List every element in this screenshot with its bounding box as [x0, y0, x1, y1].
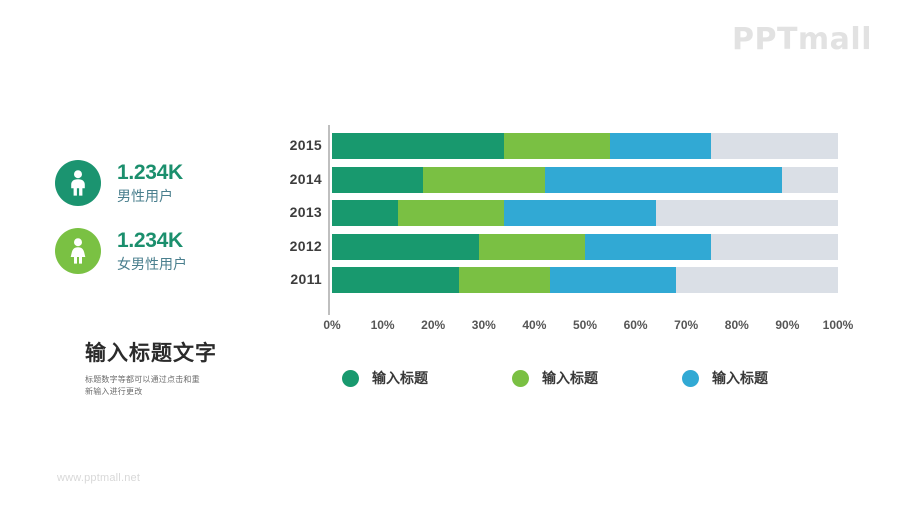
- bar-segment-1: [459, 267, 550, 293]
- y-axis-line: [328, 125, 330, 315]
- stat-text-female: 1.234K 女男性用户: [117, 229, 187, 272]
- bar-segment-2: [504, 200, 656, 226]
- bar-segment-0: [332, 234, 479, 260]
- bar-row: [332, 234, 838, 260]
- bar-segment-0: [332, 267, 459, 293]
- bar-segment-1: [398, 200, 504, 226]
- bar-segment-3: [711, 133, 838, 159]
- legend-dot-icon: [342, 370, 359, 387]
- bar-row: [332, 267, 838, 293]
- bar-segment-3: [711, 234, 838, 260]
- x-tick-0pct: 0%: [323, 318, 340, 332]
- category-axis-labels: 20152014201320122011: [262, 125, 322, 315]
- bar-segment-2: [585, 234, 712, 260]
- footer-url: www.pptmall.net: [57, 472, 140, 484]
- category-label-2015: 2015: [264, 137, 322, 153]
- male-user-icon: [68, 170, 88, 196]
- bar-segment-3: [782, 167, 838, 193]
- x-tick-80pct: 80%: [725, 318, 749, 332]
- bar-segment-0: [332, 167, 423, 193]
- legend-label: 输入标题: [372, 368, 428, 388]
- pptmall-logo: PPTmall: [732, 22, 872, 57]
- bar-segment-1: [504, 133, 610, 159]
- x-tick-70pct: 70%: [674, 318, 698, 332]
- legend-dot-icon: [512, 370, 529, 387]
- stacked-bar-chart: 20152014201320122011 0%10%20%30%40%50%60…: [262, 125, 862, 405]
- bar-segment-1: [479, 234, 585, 260]
- x-axis-tick-labels: 0%10%20%30%40%50%60%70%80%90%100%: [332, 318, 838, 338]
- legend-item-1[interactable]: 输入标题: [512, 368, 682, 388]
- stat-row-female: 1.234K 女男性用户: [55, 228, 270, 274]
- x-tick-50pct: 50%: [573, 318, 597, 332]
- x-tick-10pct: 10%: [371, 318, 395, 332]
- legend-item-2[interactable]: 输入标题: [682, 368, 852, 388]
- x-tick-90pct: 90%: [775, 318, 799, 332]
- category-label-2011: 2011: [264, 271, 322, 287]
- category-label-2014: 2014: [264, 171, 322, 187]
- bar-row: [332, 133, 838, 159]
- stat-label-male: 男性用户: [117, 188, 183, 205]
- left-info-panel: 1.234K 男性用户 1.234K 女男性用户: [55, 160, 270, 296]
- male-user-icon-circle: [55, 160, 101, 206]
- bar-segment-0: [332, 133, 504, 159]
- chart-legend: 输入标题输入标题输入标题: [342, 368, 852, 388]
- x-tick-20pct: 20%: [421, 318, 445, 332]
- chart-plot-area: [328, 125, 838, 315]
- stat-value-female: 1.234K: [117, 229, 187, 254]
- legend-item-0[interactable]: 输入标题: [342, 368, 512, 388]
- female-user-icon-circle: [55, 228, 101, 274]
- legend-label: 输入标题: [712, 368, 768, 388]
- x-tick-30pct: 30%: [472, 318, 496, 332]
- stat-text-male: 1.234K 男性用户: [117, 161, 183, 204]
- stat-value-male: 1.234K: [117, 161, 183, 186]
- female-user-icon: [68, 238, 88, 264]
- legend-label: 输入标题: [542, 368, 598, 388]
- bar-row: [332, 167, 838, 193]
- legend-dot-icon: [682, 370, 699, 387]
- bar-segment-2: [545, 167, 783, 193]
- x-tick-40pct: 40%: [522, 318, 546, 332]
- category-label-2013: 2013: [264, 204, 322, 220]
- x-tick-100pct: 100%: [823, 318, 854, 332]
- x-tick-60pct: 60%: [624, 318, 648, 332]
- bar-segment-3: [676, 267, 838, 293]
- bar-segment-2: [610, 133, 711, 159]
- bar-segment-1: [423, 167, 544, 193]
- stat-label-female: 女男性用户: [117, 256, 187, 273]
- bar-segment-2: [550, 267, 677, 293]
- category-label-2012: 2012: [264, 238, 322, 254]
- bar-segment-0: [332, 200, 398, 226]
- stat-row-male: 1.234K 男性用户: [55, 160, 270, 206]
- bar-row: [332, 200, 838, 226]
- bar-segment-3: [656, 200, 838, 226]
